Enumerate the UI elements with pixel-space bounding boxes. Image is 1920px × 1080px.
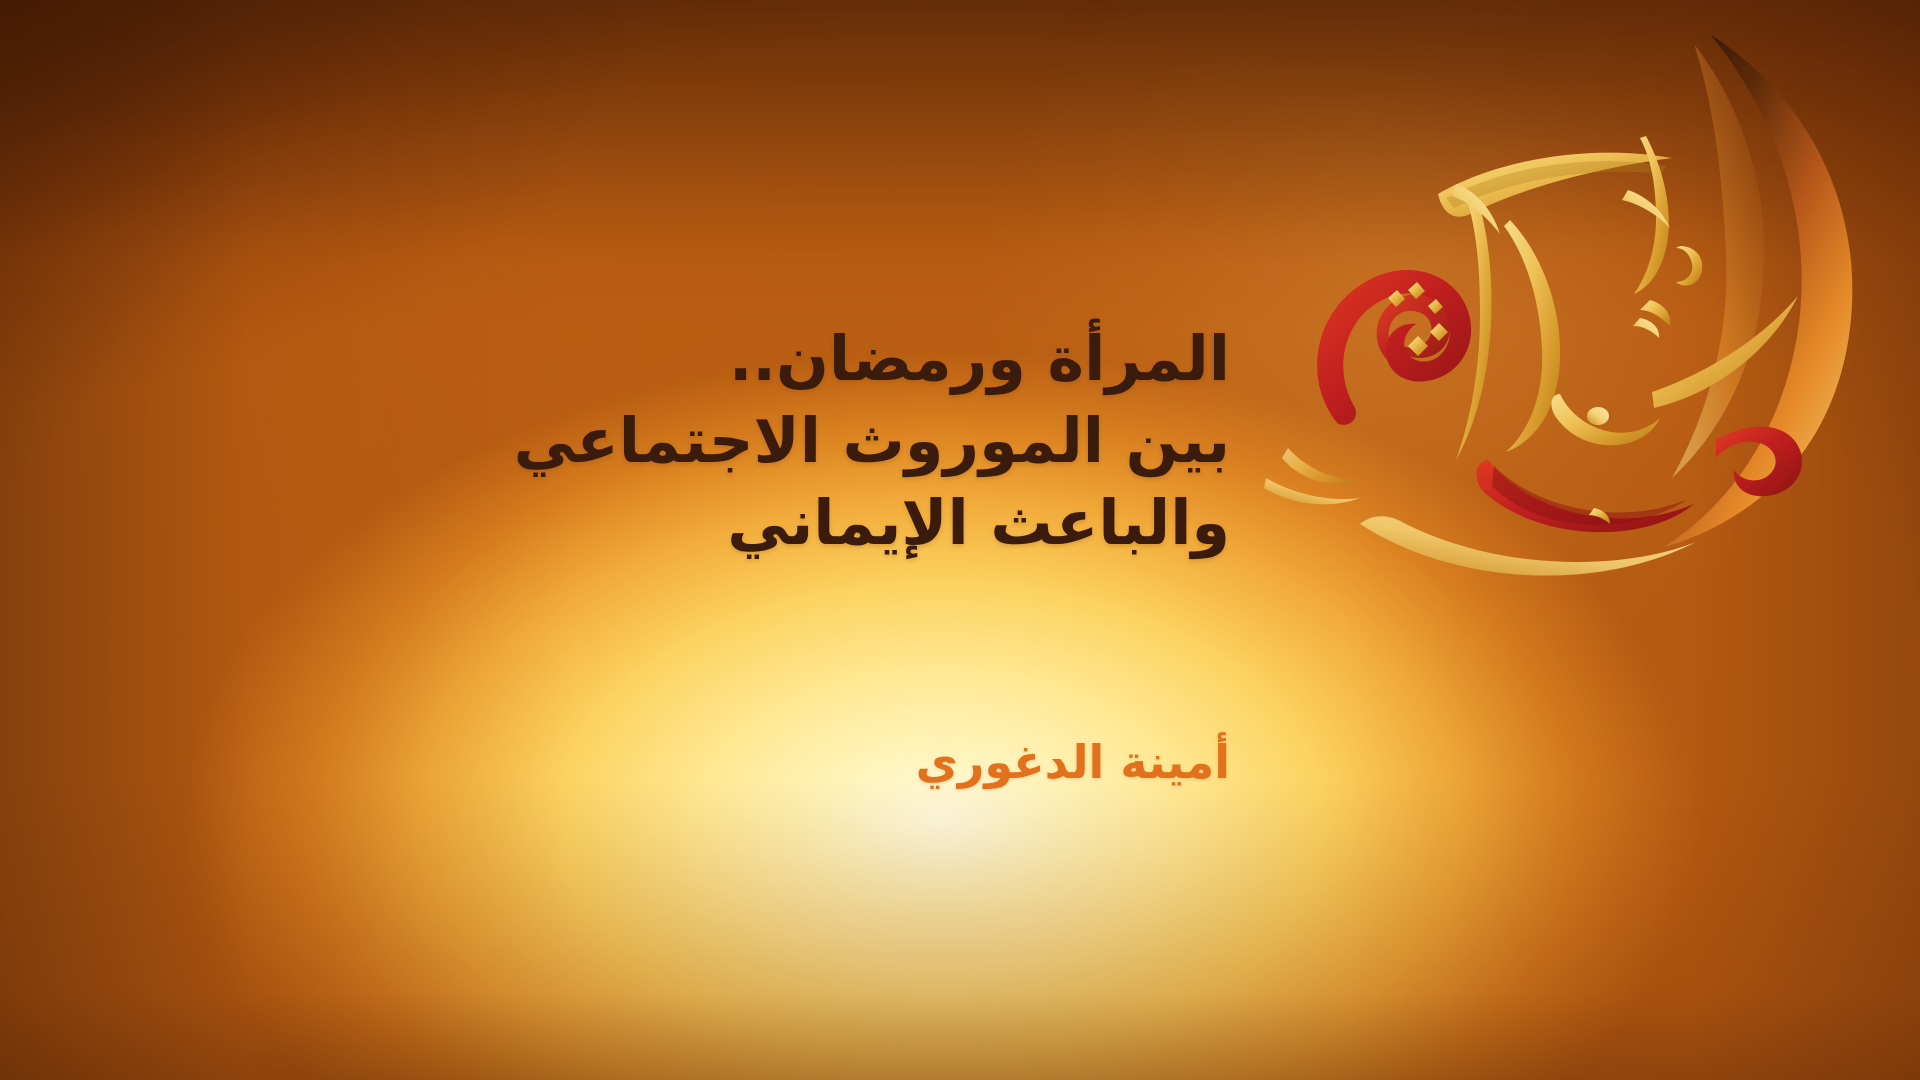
page-title: المرأة ورمضان.. بين الموروث الاجتماعي وا… bbox=[0, 318, 1230, 563]
ramadan-article-banner: المرأة ورمضان.. بين الموروث الاجتماعي وا… bbox=[0, 0, 1920, 1080]
author-name: أمينة الدغوري bbox=[916, 735, 1230, 789]
headline-line-3: والباعث الإيماني bbox=[0, 482, 1230, 564]
text-content: المرأة ورمضان.. بين الموروث الاجتماعي وا… bbox=[0, 0, 1230, 1080]
headline-line-2: بين الموروث الاجتماعي bbox=[0, 400, 1230, 482]
headline-line-1: المرأة ورمضان.. bbox=[0, 318, 1230, 400]
author-byline: أمينة الدغوري bbox=[0, 735, 1230, 790]
